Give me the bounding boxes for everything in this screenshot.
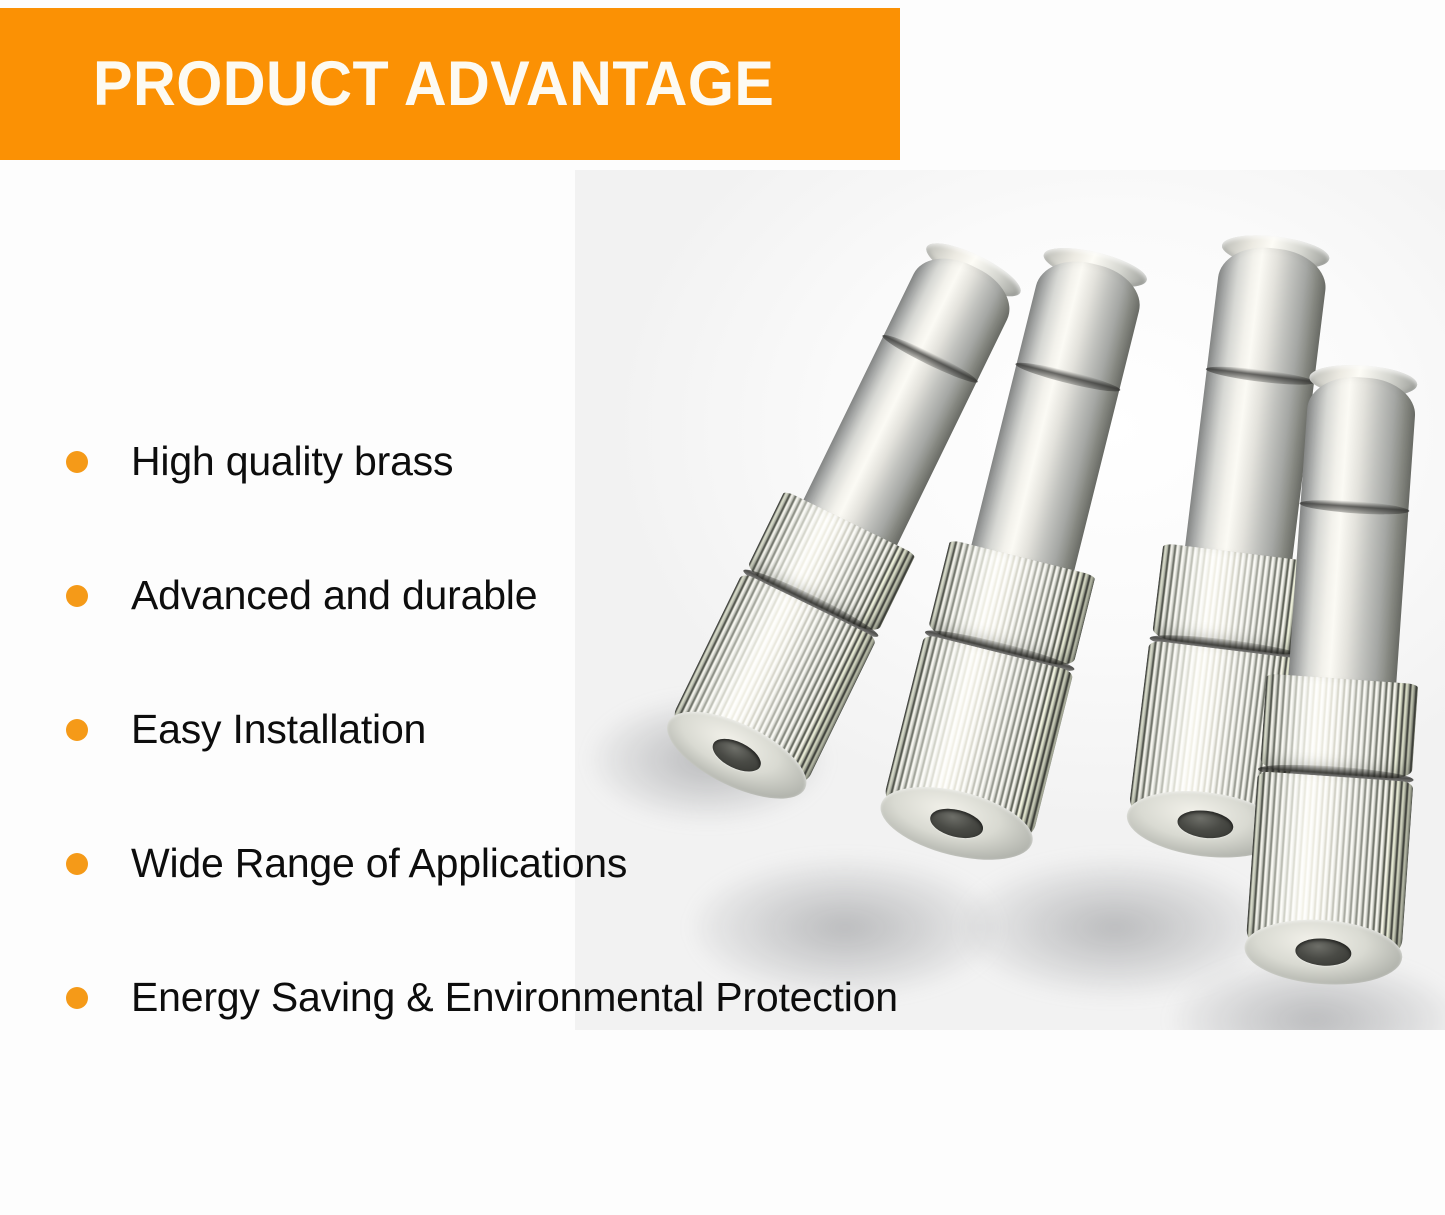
bullet-dot-icon xyxy=(66,719,88,741)
bullet-dot-icon xyxy=(66,987,88,1009)
list-item: Advanced and durable xyxy=(0,529,1000,663)
nozzle-knurled-upper xyxy=(1260,673,1418,779)
bullet-dot-icon xyxy=(66,853,88,875)
header-banner: PRODUCT ADVANTAGE xyxy=(0,8,900,160)
list-item: Energy Saving & Environmental Protection xyxy=(0,931,1000,1065)
product-advantage-page: PRODUCT ADVANTAGE xyxy=(0,0,1445,1215)
bullet-dot-icon xyxy=(66,451,88,473)
page-title: PRODUCT ADVANTAGE xyxy=(93,53,774,116)
feature-label: Energy Saving & Environmental Protection xyxy=(131,975,898,1020)
feature-label: Advanced and durable xyxy=(131,573,537,618)
feature-label: High quality brass xyxy=(131,439,453,484)
bullet-dot-icon xyxy=(66,585,88,607)
list-item: Easy Installation xyxy=(0,663,1000,797)
nozzle-orifice xyxy=(1294,937,1352,968)
feature-list: High quality brass Advanced and durable … xyxy=(0,395,1000,1065)
feature-label: Wide Range of Applications xyxy=(131,841,627,886)
feature-label: Easy Installation xyxy=(131,707,426,752)
list-item: Wide Range of Applications xyxy=(0,797,1000,931)
list-item: High quality brass xyxy=(0,395,1000,529)
nozzle-stem xyxy=(1287,374,1417,699)
